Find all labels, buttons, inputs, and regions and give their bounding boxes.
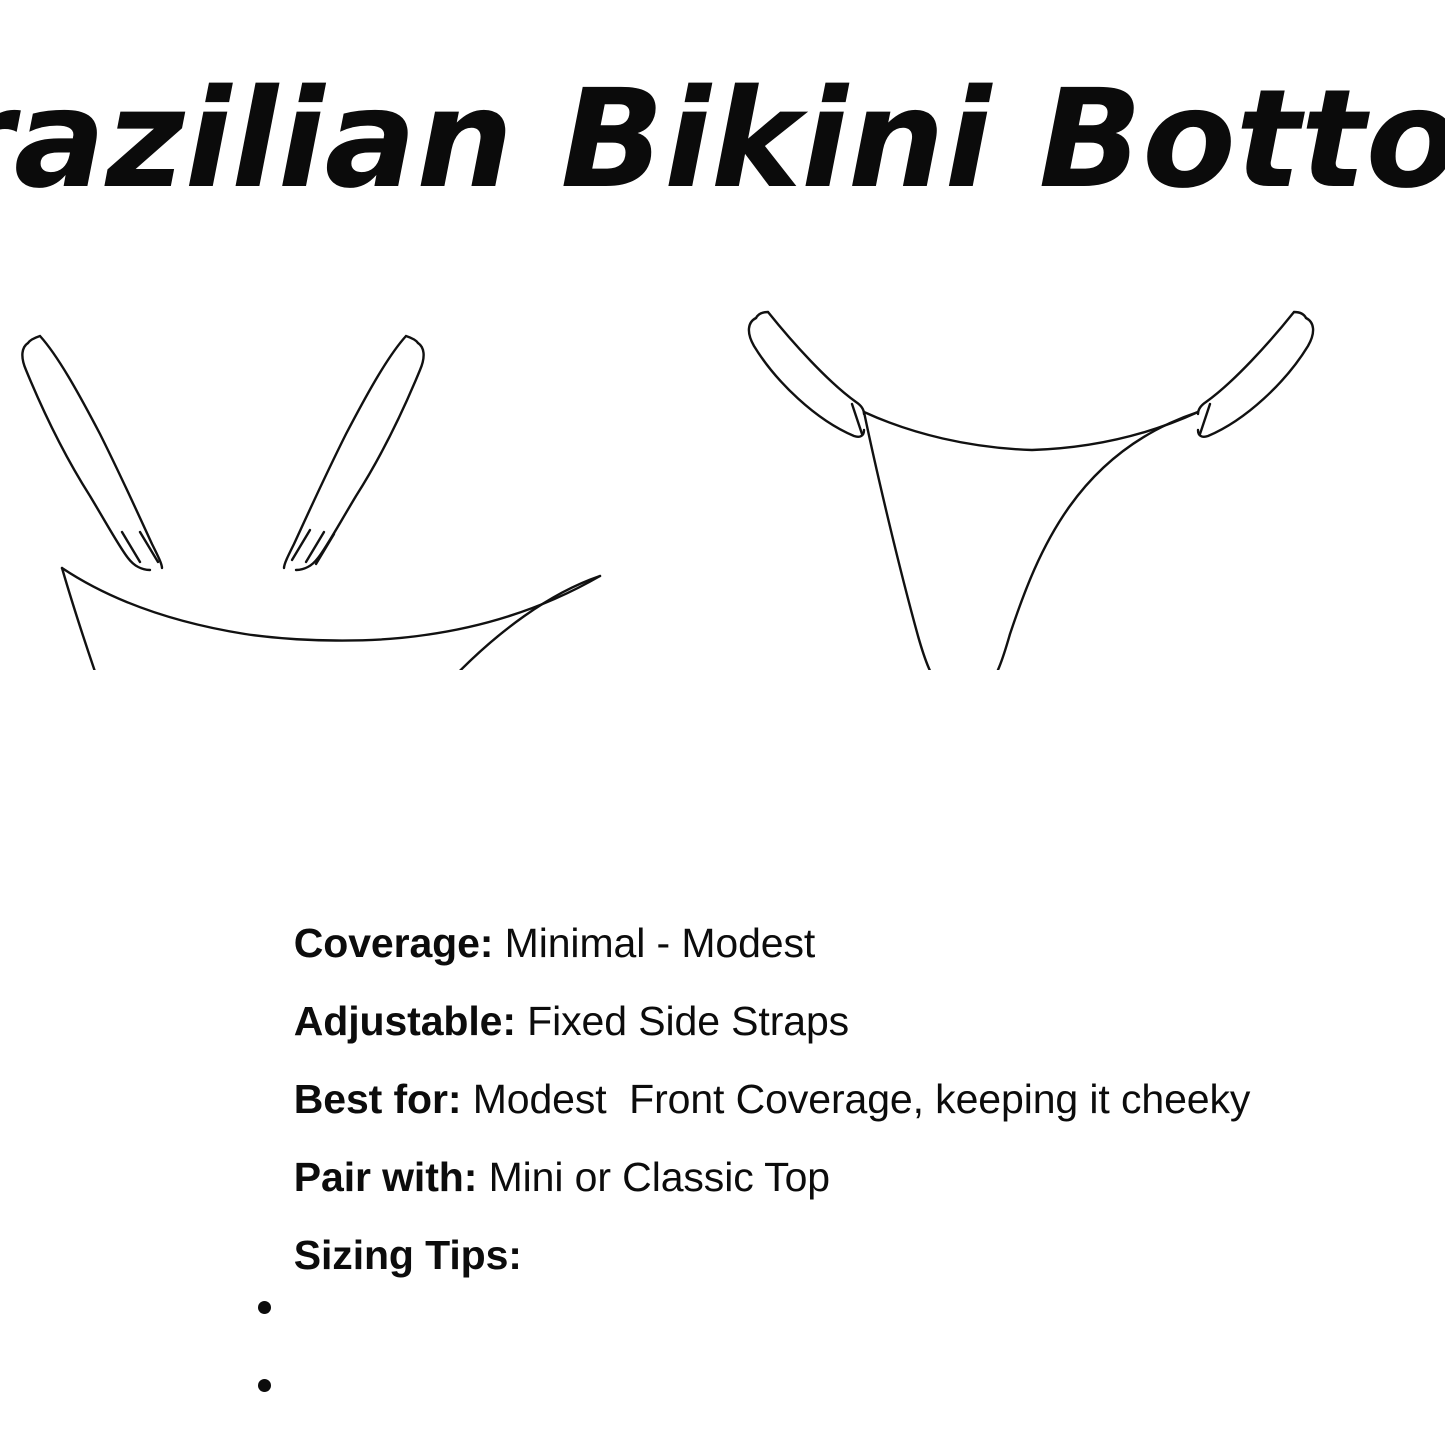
- spec-value-pair-with: Mini or Classic Top: [477, 1154, 830, 1200]
- front-left-strap-upper: [22, 343, 150, 570]
- back-waist-curve: [864, 412, 1198, 450]
- front-waist-curve: [62, 568, 600, 641]
- title-script-art: Brazilian Bikini Bottom: [0, 36, 1445, 226]
- front-right-strap-upper: [296, 343, 424, 570]
- spec-value-coverage: Minimal - Modest: [493, 920, 815, 966]
- list-item: Classic Cheeky Style: [258, 1346, 1358, 1424]
- specification-list: Coverage: Minimal - Modest Adjustable: F…: [226, 826, 1386, 1216]
- product-illustrations: [0, 300, 1445, 670]
- page-title: Brazilian Bikini Bottom: [0, 36, 1445, 226]
- back-left-strap: [749, 318, 864, 437]
- spec-label-pair-with: Pair with:: [294, 1154, 478, 1200]
- spec-value-adjustable: Fixed Side Straps: [516, 998, 849, 1044]
- bullet-dot-icon: [258, 1379, 271, 1392]
- back-view-illustration: [749, 312, 1313, 670]
- back-right-strap-edge: [1198, 312, 1306, 414]
- spec-label-coverage: Coverage:: [294, 920, 494, 966]
- spec-label-best-for: Best for:: [294, 1076, 462, 1122]
- back-left-strap-edge: [756, 312, 864, 414]
- front-right-strap-lower: [284, 336, 418, 568]
- spec-label-adjustable: Adjustable:: [294, 998, 516, 1044]
- front-view-illustration: [22, 336, 600, 670]
- list-item: For High Hip Wear, Size Up: [258, 1268, 1358, 1346]
- front-body-outline: [62, 568, 600, 670]
- back-right-strap: [1198, 318, 1313, 437]
- spec-value-best-for: Modest Front Coverage, keeping it cheeky: [461, 1076, 1250, 1122]
- page-title-text: Brazilian Bikini Bottom: [0, 61, 1445, 219]
- product-info-card: Brazilian Bikini Bottom: [0, 0, 1445, 1445]
- list-item-label: For High Hip Wear, Size Up: [372, 1440, 875, 1445]
- back-left-strap-seam: [852, 404, 862, 434]
- bullet-dot-icon: [258, 1301, 271, 1314]
- back-right-strap-seam: [1200, 404, 1210, 434]
- sizing-tips-list: For High Hip Wear, Size Up Classic Cheek…: [258, 1268, 1358, 1424]
- spec-row-coverage: Coverage: Minimal - Modest: [226, 826, 1386, 904]
